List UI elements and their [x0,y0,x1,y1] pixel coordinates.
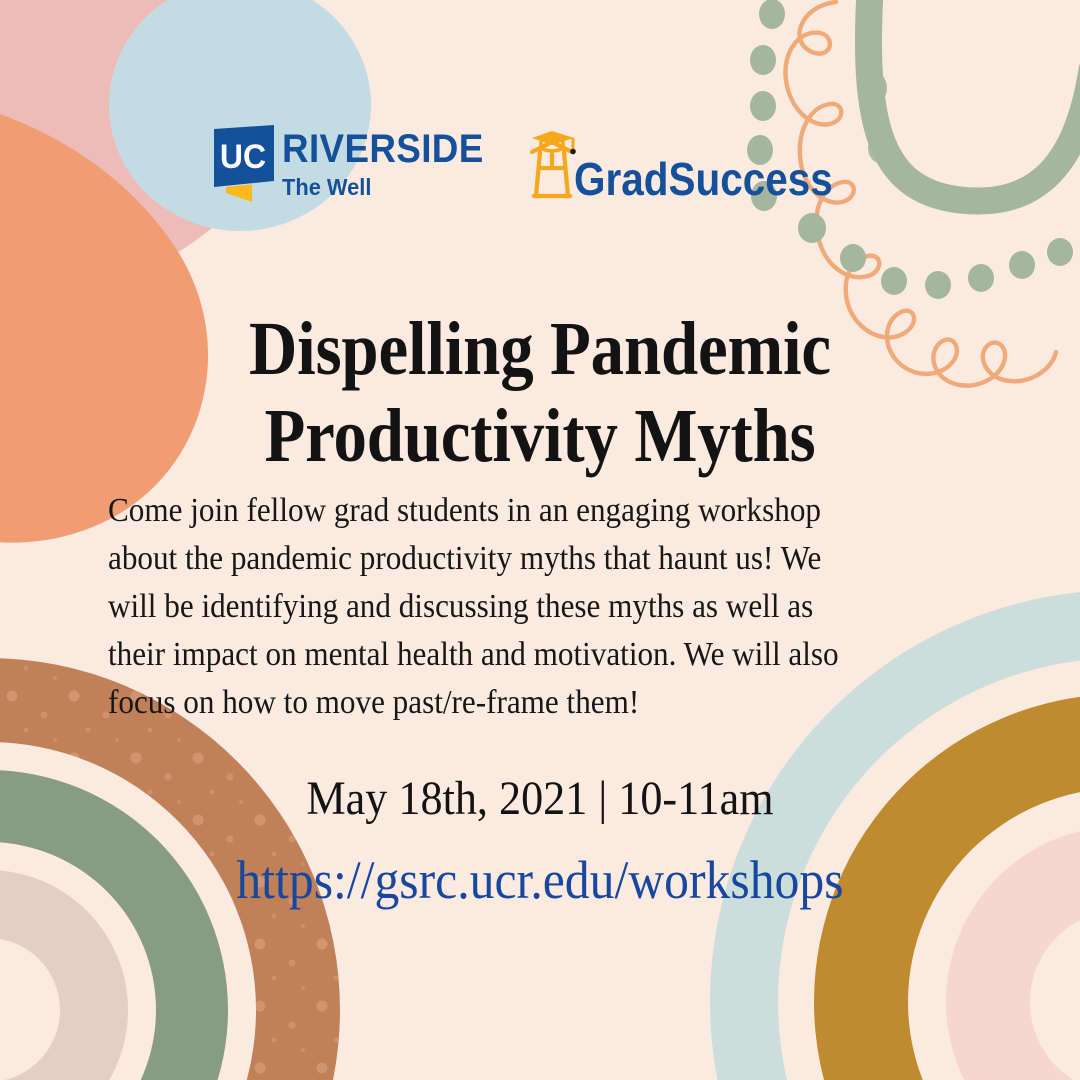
bell-tower-graduation-cap-icon [524,124,580,204]
title-line-1: Dispelling Pandemic [126,306,953,393]
poster-content: UC RIVERSIDE The Well [0,0,1080,1080]
event-datetime: May 18th, 2021 | 10-11am [43,773,1037,826]
uc-riverside-the-well-logo: UC RIVERSIDE The Well [212,125,501,199]
logo-row: UC RIVERSIDE The Well [0,124,1080,200]
uc-riverside-logo-icon: UC [212,125,276,199]
gradsuccess-logo: GradSuccess [524,124,868,200]
title-line-2: Productivity Myths [126,393,953,480]
description-line-1: Come join fellow grad students in an eng… [108,487,914,535]
description-line-2: about the pandemic productivity myths th… [108,535,914,583]
ucr-institution-name: RIVERSIDE [282,129,484,169]
description-paragraph: Come join fellow grad students in an eng… [108,487,914,727]
page-title: Dispelling Pandemic Productivity Myths [126,306,953,479]
svg-text:UC: UC [220,137,266,175]
event-registration-link[interactable]: https://gsrc.ucr.edu/workshops [43,851,1037,910]
poster-canvas: UC RIVERSIDE The Well [0,0,1080,1080]
ucr-unit-name: The Well [282,176,490,199]
uc-riverside-wordmark: RIVERSIDE The Well [282,125,501,199]
description-line-3: will be identifying and discussing these… [108,583,914,631]
gradsuccess-wordmark-text: GradSuccess [574,156,833,202]
description-line-4: their impact on mental health and motiva… [108,631,914,679]
description-line-5: focus on how to move past/re-frame them! [108,679,914,727]
